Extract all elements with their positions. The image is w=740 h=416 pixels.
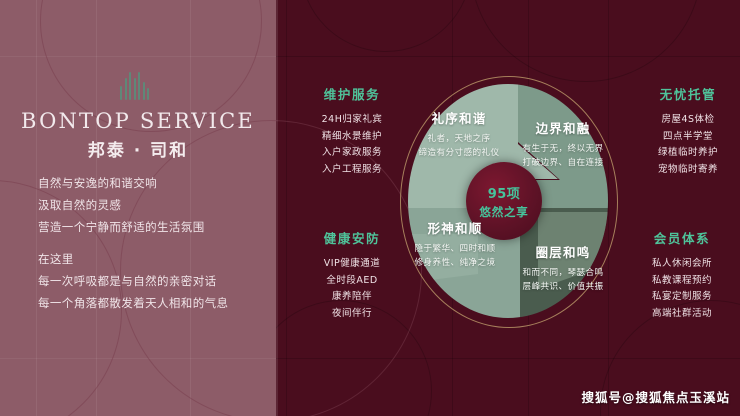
brand-panel: BONTOP SERVICE 邦泰 · 司和 自然与安逸的和谐交响 汲取自然的灵… <box>0 0 276 416</box>
quadrant-line: 和而不同，琴瑟合鸣 <box>500 266 626 280</box>
brand-title-cn: 邦泰 · 司和 <box>0 136 276 161</box>
service-group-title: 健康安防 <box>292 228 412 247</box>
service-item: 私宴定制服务 <box>622 289 740 306</box>
service-group-member: 会员体系 私人休闲会所 私教课程预约 私宴定制服务 高端社群活动 <box>622 228 740 322</box>
service-item: 24H归家礼宾 <box>292 112 412 129</box>
quadrant-line: 打破边界、自在连接 <box>502 156 624 170</box>
service-item: 康养陪伴 <box>292 289 412 306</box>
quadrant-title: 形神和顺 <box>396 218 514 237</box>
source-watermark: 搜狐号@搜狐焦点玉溪站 <box>581 387 730 406</box>
tagline-line: 每一个角落都散发着天人相和的气息 <box>38 292 268 314</box>
quadrant-title: 圈层和鸣 <box>500 242 626 261</box>
brand-title-en: BONTOP SERVICE <box>0 109 276 133</box>
quadrant-title: 礼序和谐 <box>400 108 518 127</box>
quadrant-line: 有生于无，终以无界 <box>502 142 624 156</box>
service-group-title: 无忧托管 <box>628 84 740 103</box>
quadrant-line: 缔造有分寸感的礼仪 <box>400 146 518 160</box>
service-item: 入户家政服务 <box>292 145 412 162</box>
quadrant-line: 修身养性、纯净之境 <box>396 256 514 270</box>
quadrant-line: 层峰共识、价值共振 <box>500 280 626 294</box>
service-group-custody: 无忧托管 房屋4S体检 四点半学堂 绿植临时养护 宠物临时寄养 <box>628 84 740 178</box>
tagline-line: 每一次呼吸都是与自然的亲密对话 <box>38 270 268 292</box>
service-item: 精细水景维护 <box>292 129 412 146</box>
service-item: 房屋4S体检 <box>628 112 740 129</box>
quadrant-top-right: 边界和融 有生于无，终以无界 打破边界、自在连接 <box>502 118 624 170</box>
service-group-title: 会员体系 <box>622 228 740 247</box>
tagline-line: 自然与安逸的和谐交响 <box>38 172 268 194</box>
bontop-logo-mark-icon <box>120 66 154 100</box>
service-item: VIP健康通道 <box>292 256 412 273</box>
panel-divider <box>276 0 278 416</box>
quadrant-bottom-right: 圈层和鸣 和而不同，琴瑟合鸣 层峰共识、价值共振 <box>500 242 626 294</box>
service-item: 夜间伴行 <box>292 306 412 323</box>
tagline-line: 营造一个宁静而舒适的生活氛围 <box>38 216 268 238</box>
core-count: 95项 <box>488 183 521 202</box>
service-item: 四点半学堂 <box>628 129 740 146</box>
service-item: 入户工程服务 <box>292 162 412 179</box>
service-item: 高端社群活动 <box>622 306 740 323</box>
service-group-title: 维护服务 <box>292 84 412 103</box>
service-group-health: 健康安防 VIP健康通道 全时段AED 康养陪伴 夜间伴行 <box>292 228 412 322</box>
quadrant-bottom-left: 形神和顺 隐于繁华、四时和顺 修身养性、纯净之境 <box>396 218 514 270</box>
brand-tagline: 自然与安逸的和谐交响 汲取自然的灵感 营造一个宁静而舒适的生活氛围 在这里 每一… <box>38 172 268 314</box>
tagline-spacer <box>38 238 268 248</box>
service-group-maintenance: 维护服务 24H归家礼宾 精细水景维护 入户家政服务 入户工程服务 <box>292 84 412 178</box>
service-item: 宠物临时寄养 <box>628 162 740 179</box>
concept-wheel-diagram: 95项 悠然之享 礼序和谐 礼者，天地之序 缔造有分寸感的礼仪 边界和融 有生于… <box>398 70 618 332</box>
service-item: 私教课程预约 <box>622 273 740 290</box>
tagline-line: 汲取自然的灵感 <box>38 194 268 216</box>
presentation-slide: BONTOP SERVICE 邦泰 · 司和 自然与安逸的和谐交响 汲取自然的灵… <box>0 0 740 416</box>
quadrant-line: 隐于繁华、四时和顺 <box>396 242 514 256</box>
service-item: 私人休闲会所 <box>622 256 740 273</box>
tagline-line: 在这里 <box>38 248 268 270</box>
quadrant-line: 礼者，天地之序 <box>400 132 518 146</box>
quadrant-top-left: 礼序和谐 礼者，天地之序 缔造有分寸感的礼仪 <box>400 108 518 160</box>
service-item: 全时段AED <box>292 273 412 290</box>
service-item: 绿植临时养护 <box>628 145 740 162</box>
quadrant-title: 边界和融 <box>502 118 624 137</box>
